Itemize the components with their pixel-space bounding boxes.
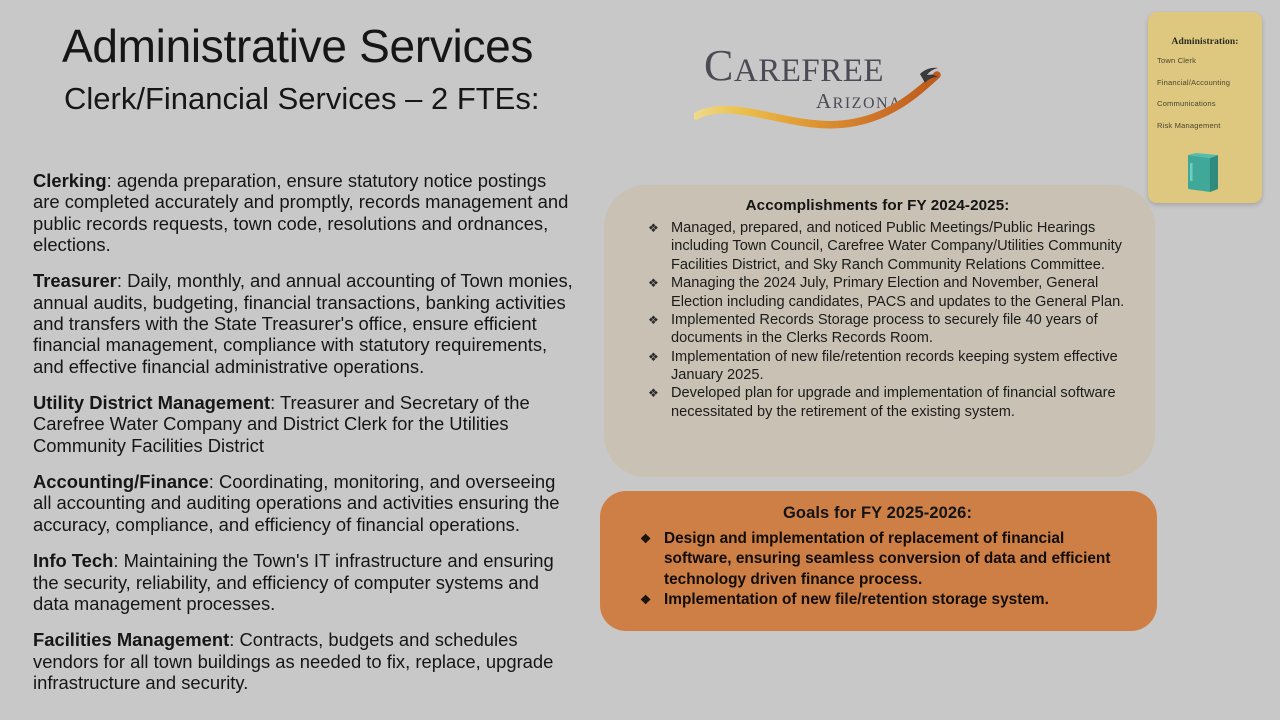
list-item-text: Developed plan for upgrade and implement… xyxy=(671,385,1116,419)
paragraph-accounting-finance: Accounting/Finance: Coordinating, monito… xyxy=(33,471,573,535)
accomplishments-panel: Accomplishments for FY 2024-2025: ❖Manag… xyxy=(604,185,1155,477)
list-item: ❖Managed, prepared, and noticed Public M… xyxy=(626,219,1129,274)
list-item-text: Implementation of new file/retention sto… xyxy=(664,591,1049,608)
diamond-bullet-icon: ❖ xyxy=(648,311,659,329)
admin-item-risk-management: Risk Management xyxy=(1157,122,1262,130)
list-item-text: Managed, prepared, and noticed Public Me… xyxy=(671,220,1122,273)
accomplishments-list: ❖Managed, prepared, and noticed Public M… xyxy=(626,219,1129,421)
svg-text:CAREFREE: CAREFREE xyxy=(704,41,884,90)
goals-heading: Goals for FY 2025-2026: xyxy=(620,504,1135,523)
title-block: Administrative Services Clerk/Financial … xyxy=(62,22,702,116)
carefree-arizona-logo: CAREFREE ARIZONA xyxy=(694,28,952,133)
diamond-bullet-icon: ❖ xyxy=(640,530,651,549)
administration-card-list: Town Clerk Financial/Accounting Communic… xyxy=(1148,57,1262,129)
paragraph-info-tech: Info Tech: Maintaining the Town's IT inf… xyxy=(33,550,573,614)
page-title: Administrative Services xyxy=(62,22,702,72)
list-item: ❖Managing the 2024 July, Primary Electio… xyxy=(626,274,1129,311)
diamond-bullet-icon: ❖ xyxy=(648,348,659,366)
diamond-bullet-icon: ❖ xyxy=(648,274,659,292)
paragraph-treasurer: Treasurer: Daily, monthly, and annual ac… xyxy=(33,270,573,377)
binder-icon xyxy=(1180,151,1226,195)
goals-panel: Goals for FY 2025-2026: ❖Design and impl… xyxy=(600,491,1157,631)
list-item-text: Implementation of new file/retention rec… xyxy=(671,349,1118,383)
page-subtitle: Clerk/Financial Services – 2 FTEs: xyxy=(64,82,702,116)
paragraph-utility-district-management: Utility District Management: Treasurer a… xyxy=(33,392,573,456)
logo-graphic: CAREFREE ARIZONA xyxy=(694,28,952,133)
administration-card: Administration: Town Clerk Financial/Acc… xyxy=(1148,12,1262,203)
goals-list: ❖Design and implementation of replacemen… xyxy=(620,529,1135,610)
term-utility-district-management: Utility District Management xyxy=(33,392,270,413)
admin-item-communications: Communications xyxy=(1157,100,1262,108)
list-item: ❖Implementation of new file/retention re… xyxy=(626,348,1129,385)
term-facilities-management: Facilities Management xyxy=(33,629,229,650)
services-description-column: Clerking: agenda preparation, ensure sta… xyxy=(33,170,573,693)
paragraph-facilities-management: Facilities Management: Contracts, budget… xyxy=(33,629,573,693)
diamond-bullet-icon: ❖ xyxy=(648,384,659,402)
list-item: ❖Implementation of new file/retention st… xyxy=(620,590,1135,610)
term-clerking-body: : agenda preparation, ensure statutory n… xyxy=(33,170,568,255)
list-item-text: Design and implementation of replacement… xyxy=(664,530,1110,588)
list-item-text: Implemented Records Storage process to s… xyxy=(671,312,1098,346)
list-item: ❖Implemented Records Storage process to … xyxy=(626,311,1129,348)
list-item: ❖Design and implementation of replacemen… xyxy=(620,529,1135,590)
list-item: ❖Developed plan for upgrade and implemen… xyxy=(626,384,1129,421)
term-accounting-finance: Accounting/Finance xyxy=(33,471,209,492)
term-treasurer: Treasurer xyxy=(33,270,117,291)
slide-canvas: Administrative Services Clerk/Financial … xyxy=(0,0,1280,720)
diamond-bullet-icon: ❖ xyxy=(648,219,659,237)
diamond-bullet-icon: ❖ xyxy=(640,591,651,610)
list-item-text: Managing the 2024 July, Primary Election… xyxy=(671,275,1124,309)
admin-item-financial-accounting: Financial/Accounting xyxy=(1157,79,1262,87)
term-clerking: Clerking xyxy=(33,170,107,191)
administration-card-heading: Administration: xyxy=(1148,37,1262,47)
paragraph-clerking: Clerking: agenda preparation, ensure sta… xyxy=(33,170,573,255)
admin-item-town-clerk: Town Clerk xyxy=(1157,57,1262,65)
accomplishments-heading: Accomplishments for FY 2024-2025: xyxy=(626,197,1129,214)
term-info-tech: Info Tech xyxy=(33,550,113,571)
